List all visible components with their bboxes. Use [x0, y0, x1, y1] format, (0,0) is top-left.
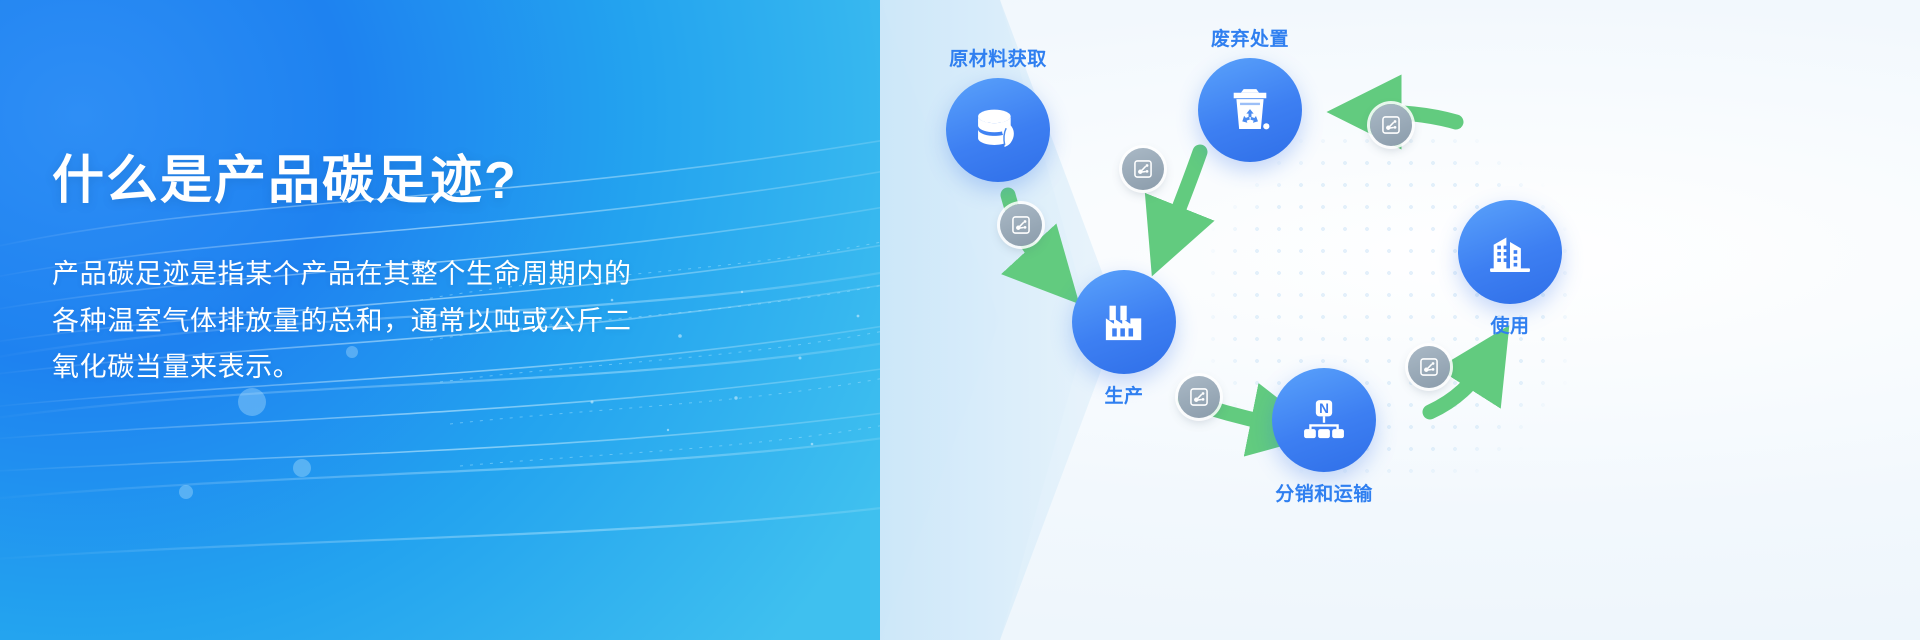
hero-description-line: 产品碳足迹是指某个产品在其整个生命周期内的: [52, 251, 752, 297]
hero-description-line: 氧化碳当量来表示。: [52, 344, 752, 390]
lifecycle-diagram: 原材料获取 废弃处置: [900, 0, 1920, 640]
building-icon: [1458, 200, 1562, 304]
node-production[interactable]: 生产: [1072, 270, 1176, 374]
node-label-raw-material: 原材料获取: [949, 44, 1047, 71]
database-leaf-icon: [946, 78, 1050, 182]
node-label-production: 生产: [1104, 381, 1143, 408]
node-raw-material[interactable]: 原材料获取: [946, 78, 1050, 182]
node-waste-disposal[interactable]: 废弃处置: [1198, 58, 1302, 162]
share-image-icon[interactable]: [1408, 346, 1450, 388]
factory-icon: [1072, 270, 1176, 374]
network-node-icon: N: [1272, 368, 1376, 472]
hero-description-line: 各种温室气体排放量的总和，通常以吨或公斤二: [52, 298, 752, 344]
node-label-use: 使用: [1490, 311, 1529, 338]
share-image-icon[interactable]: [1178, 376, 1220, 418]
recycle-bin-icon: [1198, 58, 1302, 162]
node-label-waste-disposal: 废弃处置: [1211, 24, 1289, 51]
node-distribution[interactable]: 分销和运输 N: [1272, 368, 1376, 472]
cycle-arrows: [900, 0, 1920, 640]
node-use[interactable]: 使用: [1458, 200, 1562, 304]
share-image-icon[interactable]: [1370, 104, 1412, 146]
share-image-icon[interactable]: [1000, 204, 1042, 246]
hero-description: 产品碳足迹是指某个产品在其整个生命周期内的 各种温室气体排放量的总和，通常以吨或…: [52, 251, 752, 390]
share-image-icon[interactable]: [1122, 148, 1164, 190]
node-label-distribution: 分销和运输: [1275, 479, 1373, 506]
page-title: 什么是产品碳足迹?: [52, 150, 812, 213]
hero-text-block: 什么是产品碳足迹? 产品碳足迹是指某个产品在其整个生命周期内的 各种温室气体排放…: [52, 150, 812, 391]
svg-text:N: N: [1319, 401, 1329, 416]
banner-root: 什么是产品碳足迹? 产品碳足迹是指某个产品在其整个生命周期内的 各种温室气体排放…: [0, 0, 1920, 640]
